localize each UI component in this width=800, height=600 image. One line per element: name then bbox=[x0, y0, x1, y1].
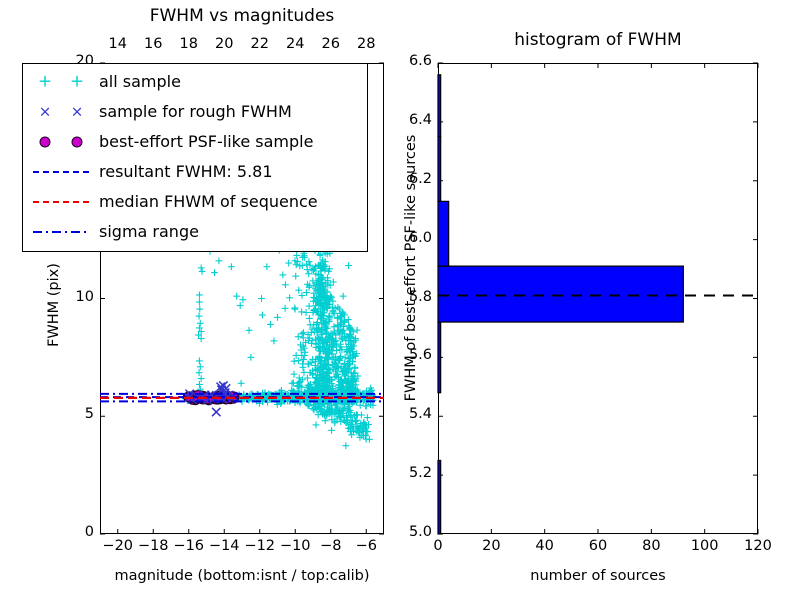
red-dashed-line-icon bbox=[33, 201, 89, 203]
cross-marker-icon: × bbox=[71, 105, 84, 120]
legend-item: resultant FWHM: 5.81 bbox=[23, 157, 367, 187]
right-xaxis-label: number of sources bbox=[438, 568, 758, 584]
circle-marker-icon bbox=[40, 137, 51, 148]
legend-marker-slot: + + bbox=[23, 67, 99, 97]
legend-item: best-effort PSF-like sample bbox=[23, 127, 367, 157]
legend-item: sigma range bbox=[23, 217, 367, 247]
legend-label: median FHWM of sequence bbox=[99, 187, 318, 217]
right-yaxis-label: FWHM of best-effort PSF-like sources bbox=[403, 58, 419, 478]
blue-dashed-line-icon bbox=[33, 171, 89, 173]
legend-label: best-effort PSF-like sample bbox=[99, 127, 313, 157]
legend-marker-slot bbox=[23, 157, 99, 187]
legend-marker-slot bbox=[23, 217, 99, 247]
legend-item: + + all sample bbox=[23, 67, 367, 97]
legend-label: resultant FWHM: 5.81 bbox=[99, 157, 273, 187]
plus-marker-icon: + bbox=[38, 74, 52, 91]
cross-marker-icon: × bbox=[39, 105, 52, 120]
legend-label: sigma range bbox=[99, 217, 199, 247]
right-x-tick: 120 bbox=[718, 538, 798, 554]
legend: + + all sample × × sample for rough FWHM… bbox=[22, 63, 368, 252]
legend-marker-slot: × × bbox=[23, 97, 99, 127]
blue-dashdot-line-icon bbox=[23, 217, 99, 247]
legend-label: sample for rough FWHM bbox=[99, 97, 292, 127]
plus-marker-icon: + bbox=[70, 74, 84, 91]
legend-label: all sample bbox=[99, 67, 181, 97]
right-y-tick: 5.0 bbox=[392, 524, 432, 540]
legend-marker-slot bbox=[23, 127, 99, 157]
legend-item: median FHWM of sequence bbox=[23, 187, 367, 217]
figure-canvas: FWHM vs magnitudes 1416182022242628 −20−… bbox=[0, 0, 800, 600]
circle-marker-icon bbox=[72, 137, 83, 148]
legend-item: × × sample for rough FWHM bbox=[23, 97, 367, 127]
legend-marker-slot bbox=[23, 187, 99, 217]
